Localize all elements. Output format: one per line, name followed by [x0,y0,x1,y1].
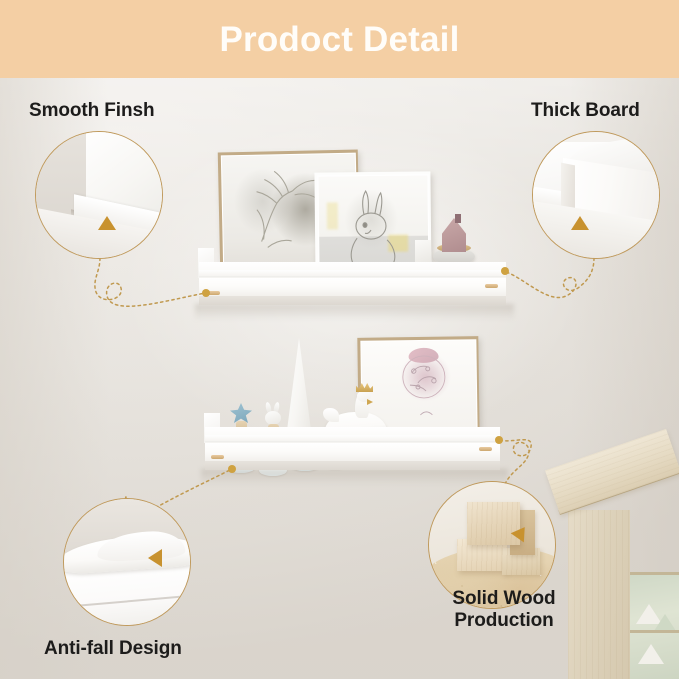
arrow-left-icon [148,549,162,567]
callout-label-thick-board: Thick Board [531,100,640,122]
house-shaped-decoration [433,214,475,266]
house-open-compartment [630,574,679,679]
shelf-corner-closeup-icon [36,132,162,258]
callout-label-solid-wood: Solid Wood Production [424,588,584,633]
shelf-bracket [485,284,498,288]
page-title: Prodoct Detail [219,22,459,57]
shelf-underside [199,296,506,305]
shelf-bracket [479,447,492,451]
star-topper-icon [230,403,252,423]
callout-label-anti-fall: Anti-fall Design [44,638,182,660]
callout-label-line-2: Production [424,610,584,632]
thick-board-inset [532,131,660,259]
wood-grain [467,502,520,545]
shelf-front-face [199,278,506,298]
anti-fall-inset [63,498,191,626]
arrow-up-icon [98,216,116,230]
decoration-chimney [455,214,461,223]
shelf-underside [205,461,500,470]
shelf-bracket [211,455,224,459]
house-shelf-line [630,630,679,633]
smooth-finish-inset [35,131,163,259]
callout-label-line-1: Solid Wood [424,588,584,610]
arrow-up-icon [571,216,589,230]
header-banner: Prodoct Detail [0,0,679,78]
upper-floating-shelf [199,262,506,320]
house-shelf-line [630,572,679,575]
product-detail-image: Prodoct Detail [0,0,679,679]
bunny-head [265,411,281,425]
bunny-topper-icon [263,403,283,425]
shelf-lip-closeup-icon [64,499,190,625]
swan-beak [367,399,373,405]
callout-label-smooth-finish: Smooth Finsh [29,100,154,122]
decoration-house-body [442,218,466,252]
shelf-drop-shadow [195,304,514,320]
small-white-box [415,240,431,264]
house-shaped-wood-shelf [568,452,679,679]
swan-tail [323,408,339,422]
wood-block [467,502,520,545]
triangle-block [638,644,664,664]
lower-floating-shelf [205,427,500,483]
shelf-anti-fall-lip [205,435,500,441]
shelf-front-face [205,443,500,463]
shelf-anti-fall-lip [199,270,506,276]
board-thickness-closeup-icon [533,132,659,258]
triangle-block [654,614,676,631]
shelf-bracket [207,291,220,295]
